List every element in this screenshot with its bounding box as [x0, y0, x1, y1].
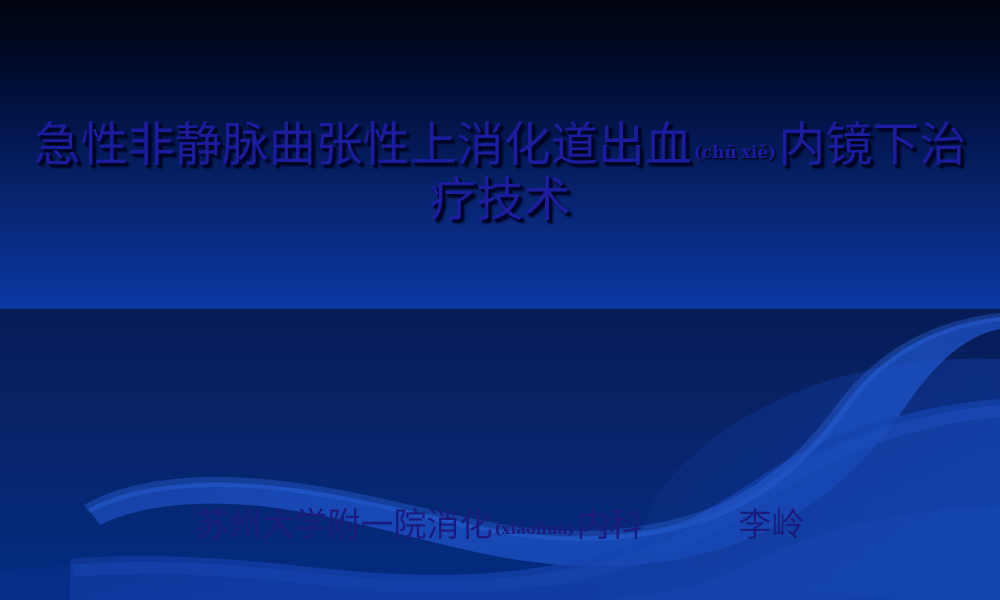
- byline-affiliation-one: 苏州大学附一院消化: [195, 505, 492, 544]
- byline-presenter-name: 李岭: [739, 505, 805, 544]
- title-pinyin-xie: xiě): [739, 143, 778, 163]
- title-segment-one: 急性非静脉曲张性上消化道出血: [34, 118, 692, 173]
- byline-affiliation-two: 内科: [577, 505, 643, 544]
- title-pinyin-chu: (chū: [692, 143, 739, 163]
- slide-byline: 苏州大学附一院消化(xiāohuà)内科李岭: [0, 498, 1000, 546]
- byline-pinyin-xiaohua: (xiāohuà): [492, 520, 576, 538]
- decorative-swoosh-layer: [0, 309, 1000, 600]
- presentation-slide: 急性非静脉曲张性上消化道出血(chūxiě)内镜下治疗技术 苏州大学附一院消化(…: [0, 0, 1000, 600]
- slide-title: 急性非静脉曲张性上消化道出血(chūxiě)内镜下治疗技术: [0, 118, 1000, 229]
- s-curve-ribbon-icon: [0, 309, 1000, 600]
